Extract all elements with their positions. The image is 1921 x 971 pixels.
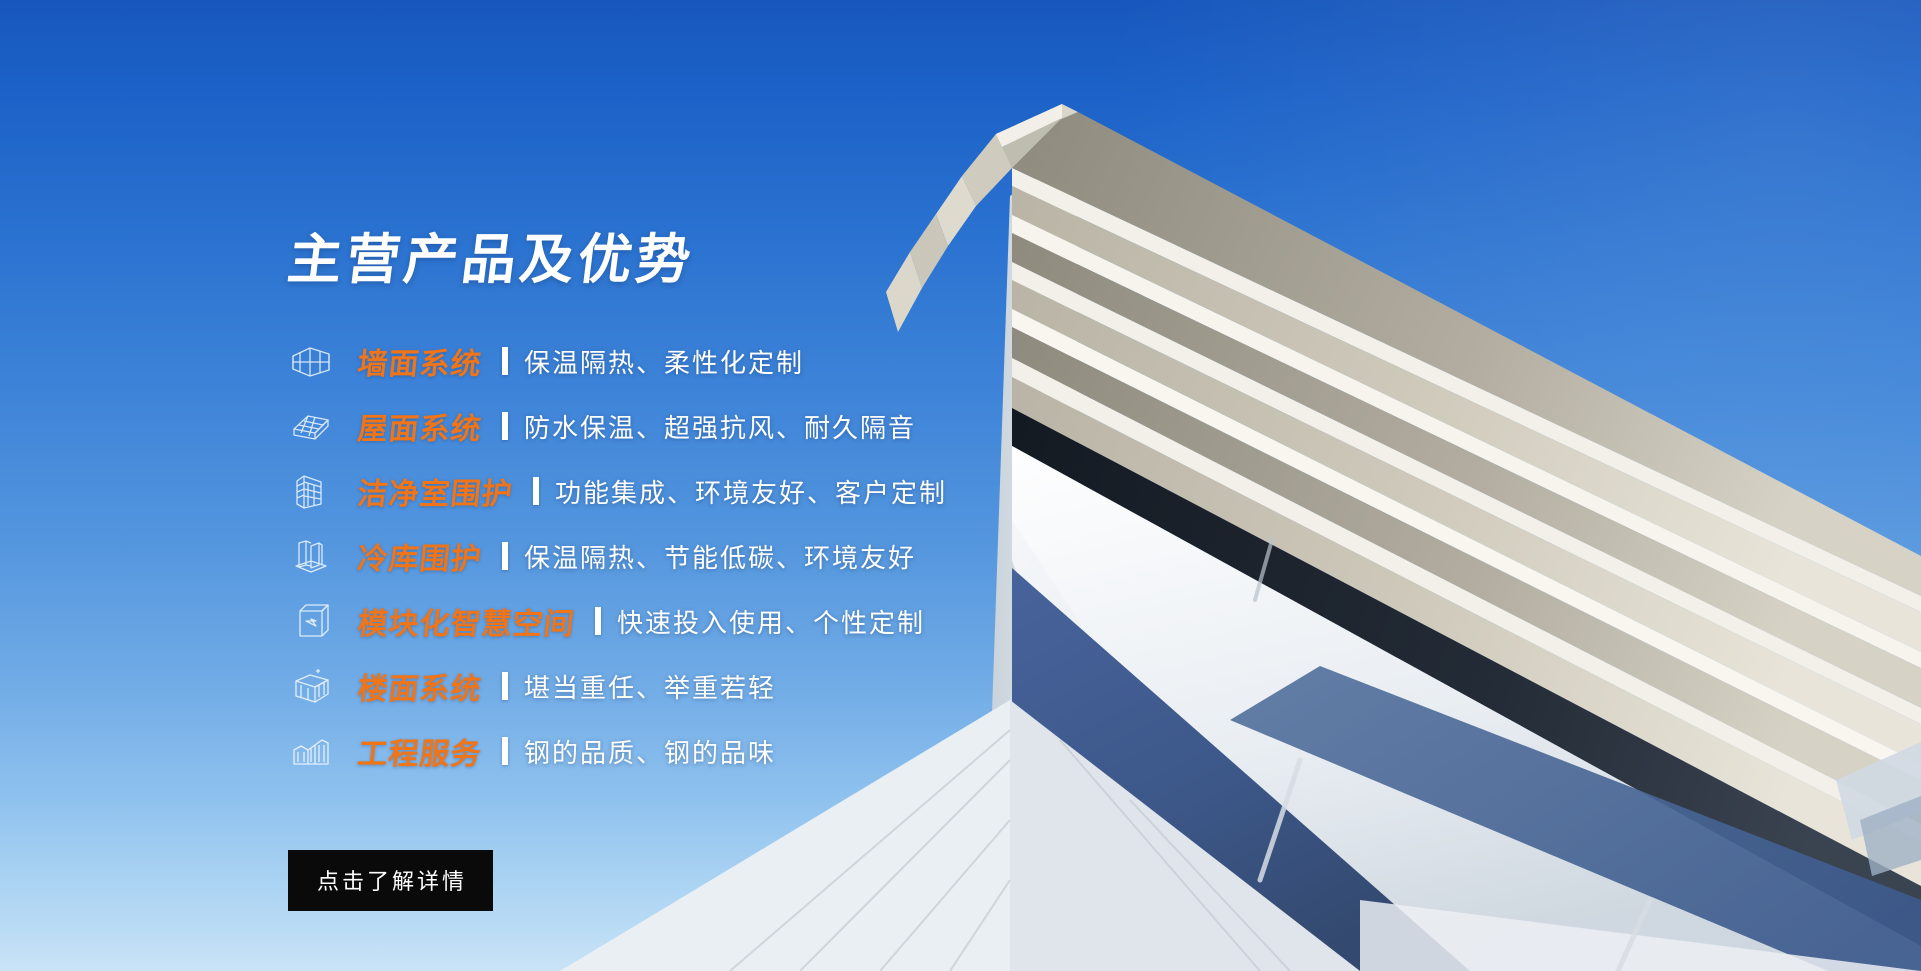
product-desc: 保温隔热、节能低碳、环境友好 bbox=[524, 538, 916, 575]
separator-bar bbox=[502, 412, 508, 440]
product-row-wall-system[interactable]: 墙面系统 保温隔热、柔性化定制 bbox=[288, 329, 1188, 394]
product-name: 洁净室围护 bbox=[356, 469, 516, 513]
page-title: 主营产品及优势 bbox=[285, 232, 1192, 289]
cold-storage-icon bbox=[288, 533, 334, 579]
engineering-service-icon bbox=[288, 728, 334, 774]
product-name: 屋面系统 bbox=[356, 404, 485, 448]
modular-cube-icon bbox=[288, 598, 334, 644]
product-list: 墙面系统 保温隔热、柔性化定制 屋面 bbox=[288, 329, 1188, 784]
separator-bar bbox=[502, 347, 508, 375]
product-name: 模块化智慧空间 bbox=[356, 599, 578, 643]
product-desc: 堪当重任、举重若轻 bbox=[524, 668, 776, 705]
separator-bar bbox=[502, 542, 508, 570]
product-row-roof-system[interactable]: 屋面系统 防水保温、超强抗风、耐久隔音 bbox=[288, 394, 1188, 459]
product-name: 墙面系统 bbox=[356, 339, 485, 383]
hero-content: 主营产品及优势 墙面系统 保温隔热、柔 bbox=[0, 0, 1921, 971]
product-row-cold-storage[interactable]: 冷库围护 保温隔热、节能低碳、环境友好 bbox=[288, 524, 1188, 589]
product-name: 冷库围护 bbox=[356, 534, 485, 578]
cta-container: 点击了解详情 bbox=[288, 814, 1188, 911]
product-row-cleanroom[interactable]: 洁净室围护 功能集成、环境友好、客户定制 bbox=[288, 459, 1188, 524]
wall-frame-icon bbox=[288, 338, 334, 384]
product-row-engineering-service[interactable]: 工程服务 钢的品质、钢的品味 bbox=[288, 719, 1188, 784]
floor-deck-icon bbox=[288, 663, 334, 709]
separator-bar bbox=[595, 607, 601, 635]
separator-bar bbox=[502, 672, 508, 700]
separator-bar bbox=[533, 477, 539, 505]
product-panel: 主营产品及优势 墙面系统 保温隔热、柔 bbox=[288, 196, 1188, 911]
product-name: 楼面系统 bbox=[356, 664, 485, 708]
hero-banner: 主营产品及优势 墙面系统 保温隔热、柔 bbox=[0, 0, 1921, 971]
learn-more-button[interactable]: 点击了解详情 bbox=[288, 850, 493, 911]
separator-bar bbox=[502, 737, 508, 765]
product-name: 工程服务 bbox=[356, 729, 485, 773]
product-desc: 功能集成、环境友好、客户定制 bbox=[555, 473, 947, 510]
cleanroom-building-icon bbox=[288, 468, 334, 514]
roof-panel-icon bbox=[288, 403, 334, 449]
product-desc: 钢的品质、钢的品味 bbox=[524, 733, 776, 770]
product-row-modular-space[interactable]: 模块化智慧空间 快速投入使用、个性定制 bbox=[288, 589, 1188, 654]
product-desc: 防水保温、超强抗风、耐久隔音 bbox=[524, 408, 916, 445]
product-row-floor-system[interactable]: 楼面系统 堪当重任、举重若轻 bbox=[288, 654, 1188, 719]
product-desc: 保温隔热、柔性化定制 bbox=[524, 343, 804, 380]
product-desc: 快速投入使用、个性定制 bbox=[617, 603, 925, 640]
